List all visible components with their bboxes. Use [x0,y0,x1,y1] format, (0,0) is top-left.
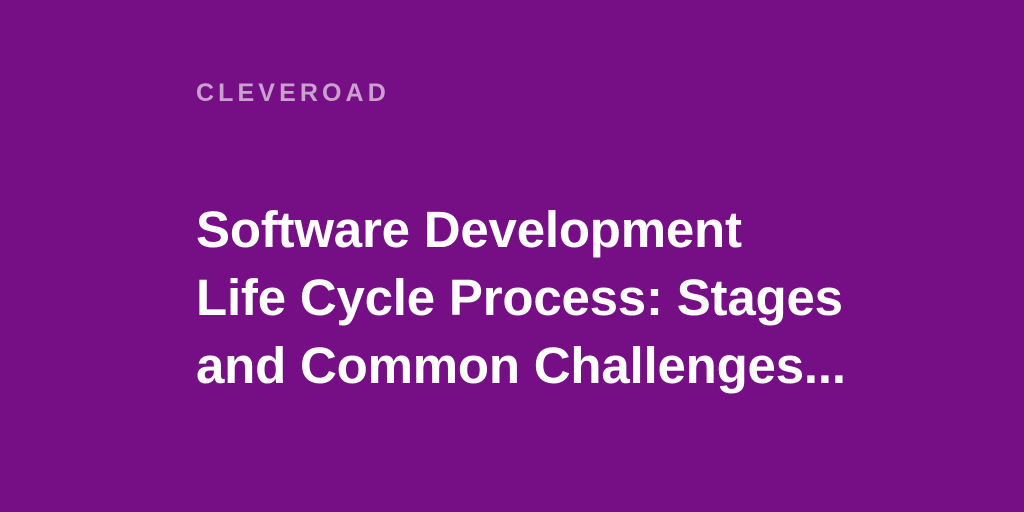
brand-logo-text[interactable]: CLEVEROAD [196,80,390,106]
article-preview-card: CLEVEROAD Software Development Life Cycl… [0,0,1024,512]
page-title-line-1: Software Development [196,196,876,264]
page-title-line-3: and Common Challenges... [196,332,876,400]
page-title-line-2: Life Cycle Process: Stages [196,264,876,332]
page-title: Software Development Life Cycle Process:… [196,196,876,400]
